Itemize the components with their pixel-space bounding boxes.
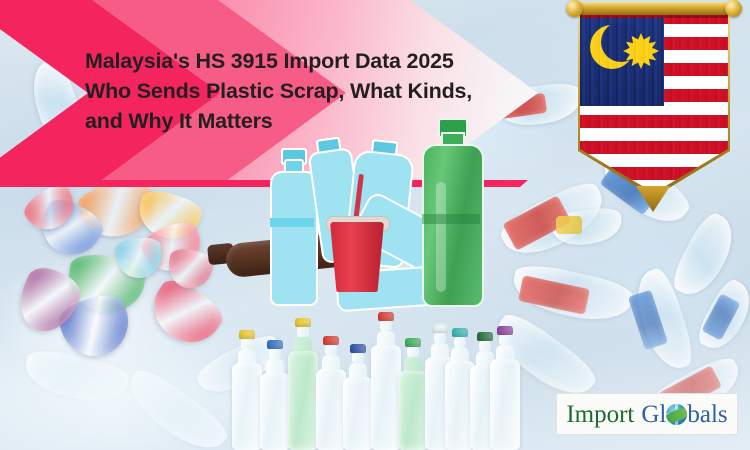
bottle-cap bbox=[378, 312, 394, 321]
bottle-body bbox=[398, 371, 428, 450]
bottle-cap bbox=[452, 328, 468, 337]
bottle-row bbox=[232, 290, 500, 450]
pet-bottle bbox=[288, 318, 318, 450]
bottle-shoulder bbox=[377, 331, 396, 345]
bottle-body bbox=[260, 373, 290, 450]
bottle-shoulder bbox=[404, 357, 423, 371]
malaysia-flag-banner bbox=[578, 2, 730, 202]
bottle-cap bbox=[497, 326, 513, 335]
green-bottle-body bbox=[422, 144, 484, 307]
crushed-colored-bottle-pile bbox=[18, 178, 248, 363]
title-line-2: Who Sends Plastic Scrap, What Kinds, bbox=[85, 76, 505, 106]
bottle-body bbox=[343, 377, 373, 450]
bottle-neck bbox=[241, 339, 254, 349]
title-line-1: Malaysia's HS 3915 Import Data 2025 bbox=[85, 46, 505, 76]
bottle-shoulder bbox=[496, 345, 515, 359]
promo-banner: Malaysia's HS 3915 Import Data 2025 Who … bbox=[0, 0, 750, 450]
bottle-cap bbox=[323, 336, 339, 345]
bottle-shoulder bbox=[294, 337, 313, 351]
bottle-cap bbox=[405, 338, 421, 347]
banner-title: Malaysia's HS 3915 Import Data 2025 Who … bbox=[85, 46, 505, 136]
flag-finial-left bbox=[566, 0, 583, 17]
bottle-body bbox=[316, 369, 346, 450]
pet-bottle bbox=[490, 326, 520, 450]
green-bottle-highlight bbox=[436, 182, 446, 292]
logo-word-bals: bals bbox=[687, 402, 727, 427]
flag-body bbox=[580, 11, 728, 193]
bottle-cap bbox=[239, 330, 255, 339]
red-cup bbox=[326, 208, 388, 292]
logo-word-gl: Gl bbox=[641, 402, 666, 427]
bottle-shoulder bbox=[451, 347, 470, 361]
flag-rod bbox=[572, 2, 736, 15]
pet-bottle bbox=[316, 336, 346, 450]
cup-body bbox=[330, 222, 384, 292]
bottle-neck bbox=[380, 321, 393, 331]
pet-bottle bbox=[343, 344, 373, 450]
pet-bottle bbox=[260, 340, 290, 450]
globe-icon bbox=[666, 404, 687, 425]
bottle-neck bbox=[325, 345, 338, 355]
import-globals-logo[interactable]: Import Gl bals bbox=[556, 393, 738, 435]
bottle-neck bbox=[499, 335, 512, 345]
flag-finial-right bbox=[725, 0, 742, 17]
bottle-neck bbox=[297, 327, 310, 337]
title-line-3: and Why It Matters bbox=[85, 106, 505, 136]
bottle-body bbox=[288, 351, 318, 450]
bottle-body bbox=[490, 359, 520, 450]
bottle-cap bbox=[295, 318, 311, 327]
bottle-waist-band bbox=[270, 218, 314, 227]
bottle-body bbox=[232, 363, 262, 450]
green-bottle-waist bbox=[422, 214, 480, 224]
bottle-shoulder bbox=[322, 355, 341, 369]
pet-bottle bbox=[232, 330, 262, 450]
green-bottle-illustration bbox=[420, 118, 482, 303]
bottle-cap bbox=[267, 340, 283, 349]
logo-word-import: Import bbox=[566, 402, 634, 427]
bottle-neck bbox=[407, 347, 420, 357]
bottle-shoulder bbox=[238, 349, 257, 363]
bottle-cap bbox=[350, 344, 366, 353]
bottle-neck bbox=[352, 353, 365, 363]
flag-fold-texture bbox=[580, 11, 728, 193]
bottle-shoulder bbox=[266, 359, 285, 373]
bottle-body bbox=[371, 345, 401, 450]
bottle-neck bbox=[269, 349, 282, 359]
bottle-neck bbox=[454, 337, 467, 347]
pet-bottle bbox=[398, 338, 428, 450]
pet-bottle bbox=[371, 312, 401, 450]
bottle-shoulder bbox=[349, 363, 368, 377]
